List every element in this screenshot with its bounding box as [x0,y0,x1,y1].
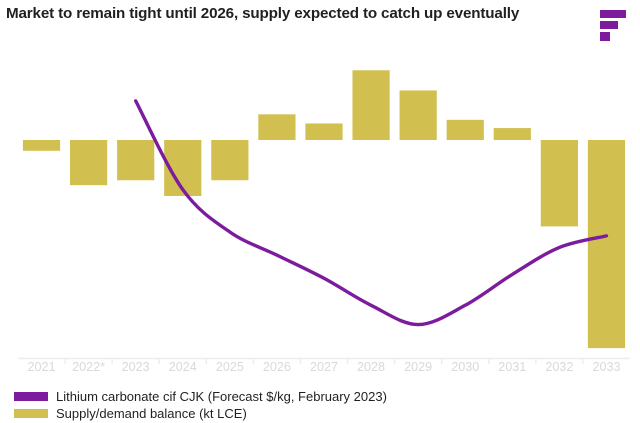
x-tick-label-2033: 2033 [583,360,630,374]
chart-legend: Lithium carbonate cif CJK (Forecast $/kg… [14,389,634,423]
x-tick-label-2025: 2025 [206,360,253,374]
bar-2029 [400,90,437,140]
bar-2028 [352,70,389,140]
bar-series [23,70,625,348]
x-tick-label-2028: 2028 [348,360,395,374]
legend-swatch-bar-icon [14,409,48,418]
x-axis-tick-labels: 20212022*2023202420252026202720282029203… [0,360,640,382]
x-tick-label-2026: 2026 [253,360,300,374]
x-tick-label-2021: 2021 [18,360,65,374]
bar-2033 [588,140,625,348]
x-tick-label-2029: 2029 [395,360,442,374]
x-tick-label-2023: 2023 [112,360,159,374]
bar-2023 [117,140,154,180]
x-tick-label-2030: 2030 [442,360,489,374]
chart-figure: Market to remain tight until 2026, suppl… [0,0,640,421]
legend-item-bar: Supply/demand balance (kt LCE) [14,406,634,421]
x-tick-label-2032: 2032 [536,360,583,374]
legend-swatch-line-icon [14,392,48,401]
bar-2027 [305,123,342,140]
legend-label-bar: Supply/demand balance (kt LCE) [56,406,247,421]
legend-label-line: Lithium carbonate cif CJK (Forecast $/kg… [56,389,387,404]
x-tick-label-2024: 2024 [159,360,206,374]
bar-2021 [23,140,60,151]
bar-2032 [541,140,578,226]
plot-area [0,0,640,365]
bar-2026 [258,114,295,140]
x-tick-label-2027: 2027 [300,360,347,374]
bar-2022 [70,140,107,185]
bar-2030 [447,120,484,140]
legend-item-line: Lithium carbonate cif CJK (Forecast $/kg… [14,389,634,404]
bar-2031 [494,128,531,140]
bar-2025 [211,140,248,180]
x-tick-label-2031: 2031 [489,360,536,374]
x-tick-label-2022: 2022* [65,360,112,374]
